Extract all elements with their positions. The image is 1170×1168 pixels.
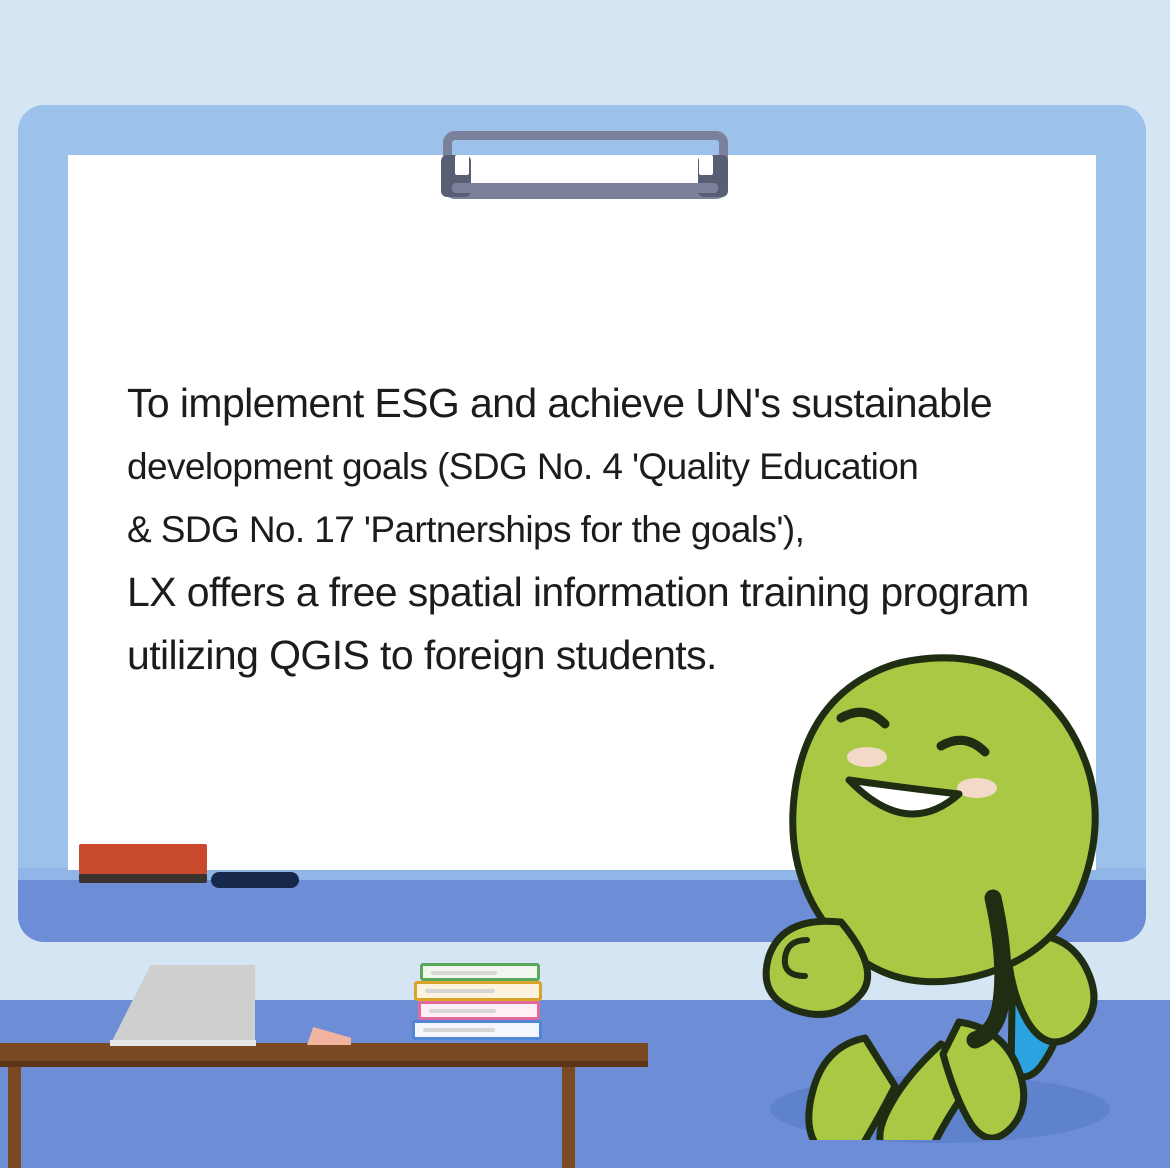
book-yellow [414,981,542,1001]
cheek-right [957,778,997,798]
book-green [420,963,540,981]
scene-root: To implement ESG and achieve UN's sustai… [0,0,1170,1168]
laptop-base [110,1040,256,1046]
desk-top-shadow [0,1061,648,1067]
message-line-1: To implement ESG and achieve UN's sustai… [127,372,1067,435]
book-page-line [431,971,497,975]
paper-clip-notch-right [699,155,713,175]
whiteboard-eraser[interactable] [79,844,207,874]
whiteboard-marker[interactable] [211,872,299,888]
book-page-line [423,1028,495,1032]
desk-top [0,1043,648,1061]
message-line-4: LX offers a free spatial information tra… [127,561,1067,624]
book-page-line [425,989,495,993]
paper-clip-bar-icon [452,183,718,193]
cheek-left [847,747,887,767]
book-page-line [429,1009,496,1013]
message-line-3: & SDG No. 17 'Partnerships for the goals… [127,498,1067,561]
book-pink [418,1001,540,1020]
desk-leg-right [562,1067,575,1168]
green-mascot-character [745,640,1125,1140]
left-arm [766,921,868,1014]
paper-clip-notch-left [455,155,469,175]
book-blue [412,1020,542,1040]
message-line-2: development goals (SDG No. 4 'Quality Ed… [127,435,1067,498]
whiteboard-eraser-base [79,874,207,883]
desk-leg-left [8,1067,21,1168]
